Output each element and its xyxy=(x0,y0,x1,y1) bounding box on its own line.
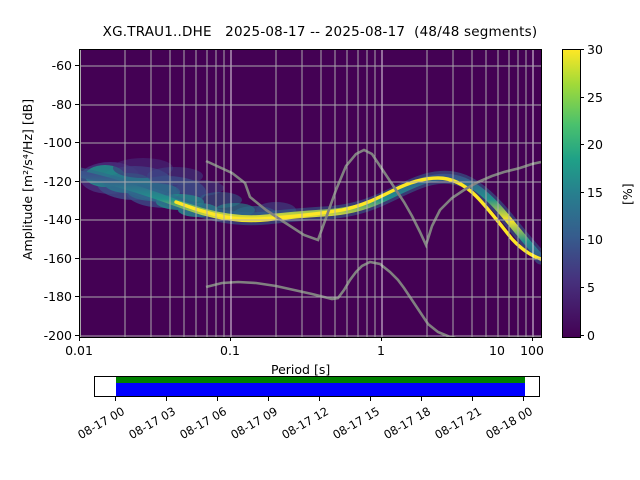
colorbar-tick-label: 20 xyxy=(587,137,603,152)
x-tickmark xyxy=(381,337,382,341)
page-title: XG.TRAU1..DHE 2025-08-17 -- 2025-08-17 (… xyxy=(0,24,640,40)
colorbar-tickmark xyxy=(580,287,584,288)
y-tick-label: -120 xyxy=(22,174,72,189)
colorbar xyxy=(562,49,581,338)
colorbar-tick-label: 30 xyxy=(587,42,603,57)
x-tick-label: 0.01 xyxy=(54,343,104,358)
time-tickmark xyxy=(319,397,320,401)
y-tickmark xyxy=(75,104,79,105)
y-tickmark xyxy=(75,219,79,220)
colorbar-tick-label: 15 xyxy=(587,185,603,200)
time-tickmark xyxy=(472,397,473,401)
time-tickmark xyxy=(523,397,524,401)
y-tickmark xyxy=(75,142,79,143)
x-tickmark xyxy=(532,337,533,341)
y-tickmark xyxy=(75,65,79,66)
colorbar-tickmark xyxy=(580,335,584,336)
colorbar-tickmark xyxy=(580,49,584,50)
ppsd-plot-area xyxy=(79,49,542,338)
time-tickmark xyxy=(370,397,371,401)
ppsd-canvas xyxy=(80,50,541,337)
colorbar-label: [%] xyxy=(620,183,635,205)
y-tick-label: -140 xyxy=(22,212,72,227)
data-coverage-bar xyxy=(94,376,540,397)
colorbar-tick-label: 25 xyxy=(587,90,603,105)
coverage-blue-band xyxy=(116,383,525,397)
colorbar-tickmark xyxy=(580,144,584,145)
colorbar-tick-label: 5 xyxy=(587,280,595,295)
y-tickmark xyxy=(75,335,79,336)
y-tickmark xyxy=(75,181,79,182)
x-tickmark xyxy=(230,337,231,341)
time-tickmark xyxy=(421,397,422,401)
y-tick-label: -100 xyxy=(22,135,72,150)
y-tick-label: -160 xyxy=(22,251,72,266)
x-axis-label: Period [s] xyxy=(271,362,330,377)
y-tickmark xyxy=(75,296,79,297)
colorbar-tickmark xyxy=(580,97,584,98)
y-tick-label: -80 xyxy=(30,97,72,112)
colorbar-tick-label: 0 xyxy=(587,328,595,343)
x-tick-label: 0.1 xyxy=(205,343,255,358)
time-tickmark xyxy=(268,397,269,401)
colorbar-tick-label: 10 xyxy=(587,232,603,247)
nlnm-curve xyxy=(206,262,541,337)
time-tickmark xyxy=(166,397,167,401)
y-tick-label: -60 xyxy=(30,58,72,73)
time-tickmark xyxy=(217,397,218,401)
y-tick-label: -180 xyxy=(22,289,72,304)
x-tick-label: 1 xyxy=(356,343,406,358)
x-tick-label: 100 xyxy=(507,343,557,358)
y-tick-label: -200 xyxy=(22,328,72,343)
y-tickmark xyxy=(75,258,79,259)
time-tickmark xyxy=(115,397,116,401)
colorbar-tickmark xyxy=(580,192,584,193)
colorbar-tickmark xyxy=(580,239,584,240)
x-tickmark xyxy=(79,337,80,341)
